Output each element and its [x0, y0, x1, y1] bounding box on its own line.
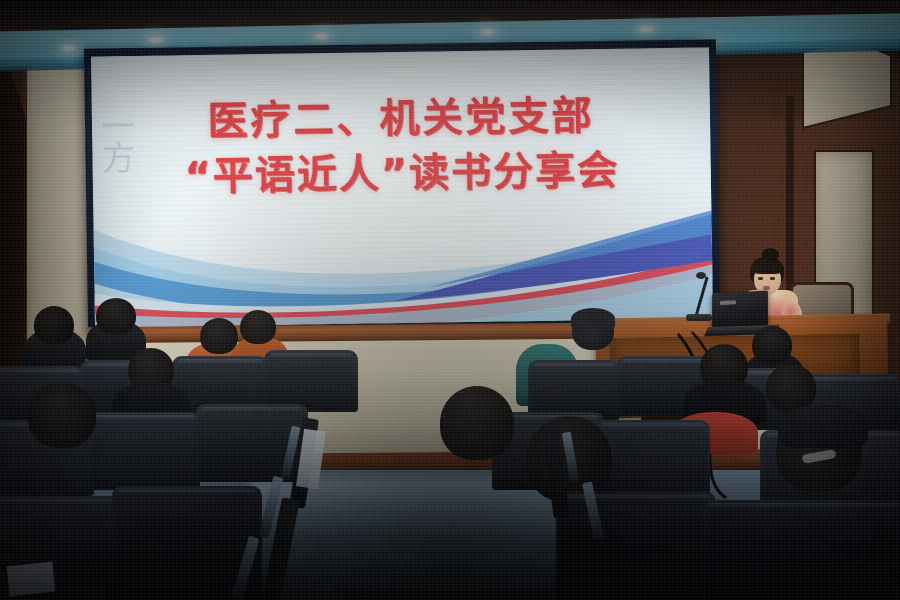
attendee-head	[240, 310, 276, 344]
attendee-head	[96, 298, 136, 334]
downlight-icon	[638, 25, 655, 33]
chair-highlight	[0, 499, 114, 504]
attendee-head-foreground	[440, 386, 514, 460]
attendee-head	[34, 306, 74, 344]
downlight-icon	[313, 32, 330, 40]
chair-highlight	[710, 503, 900, 508]
chair-highlight	[602, 423, 704, 428]
chair	[596, 420, 710, 500]
presenter-hair-bun	[762, 248, 779, 262]
surgical-cap-icon	[571, 308, 615, 330]
downlight-icon	[147, 36, 164, 44]
attendee-head	[752, 326, 792, 364]
presenter-mouth	[763, 286, 770, 290]
chair-highlight	[0, 369, 78, 374]
presenter-eye-left	[758, 277, 763, 280]
chair-highlight	[534, 363, 614, 368]
chair-foreground	[704, 500, 900, 600]
led-display-screen[interactable]: 一方 医疗二、机关党支部 “平语近人”读书分享会	[84, 39, 720, 336]
chair-foreground	[556, 492, 716, 600]
downlight-icon	[60, 44, 77, 52]
slide-title: 医疗二、机关党支部 “平语近人”读书分享会	[92, 87, 712, 207]
attendee-cap-icon	[778, 404, 868, 448]
chair	[264, 350, 358, 412]
chair	[88, 412, 200, 490]
led-screen-surface: 一方 医疗二、机关党支部 “平语近人”读书分享会	[91, 47, 713, 327]
chair-highlight	[118, 489, 256, 494]
downlight-icon	[479, 28, 496, 36]
audience	[0, 300, 900, 600]
chair-highlight	[202, 407, 302, 412]
chair	[528, 360, 620, 420]
chair-highlight	[622, 359, 704, 364]
chair-highlight	[178, 359, 262, 364]
presenter-eye-right	[770, 277, 775, 280]
attendee-head-foreground	[28, 382, 96, 448]
slide-title-line-2: “平语近人”读书分享会	[92, 143, 711, 207]
conference-room-photo: 一方 医疗二、机关党支部 “平语近人”读书分享会	[0, 0, 900, 600]
presenter-fringe	[751, 261, 784, 274]
chair-highlight	[270, 353, 352, 358]
slide-title-line-1: 医疗二、机关党支部	[92, 87, 711, 151]
chair-highlight	[94, 415, 194, 420]
microphone-icon	[696, 272, 706, 279]
paper-document	[7, 562, 56, 597]
